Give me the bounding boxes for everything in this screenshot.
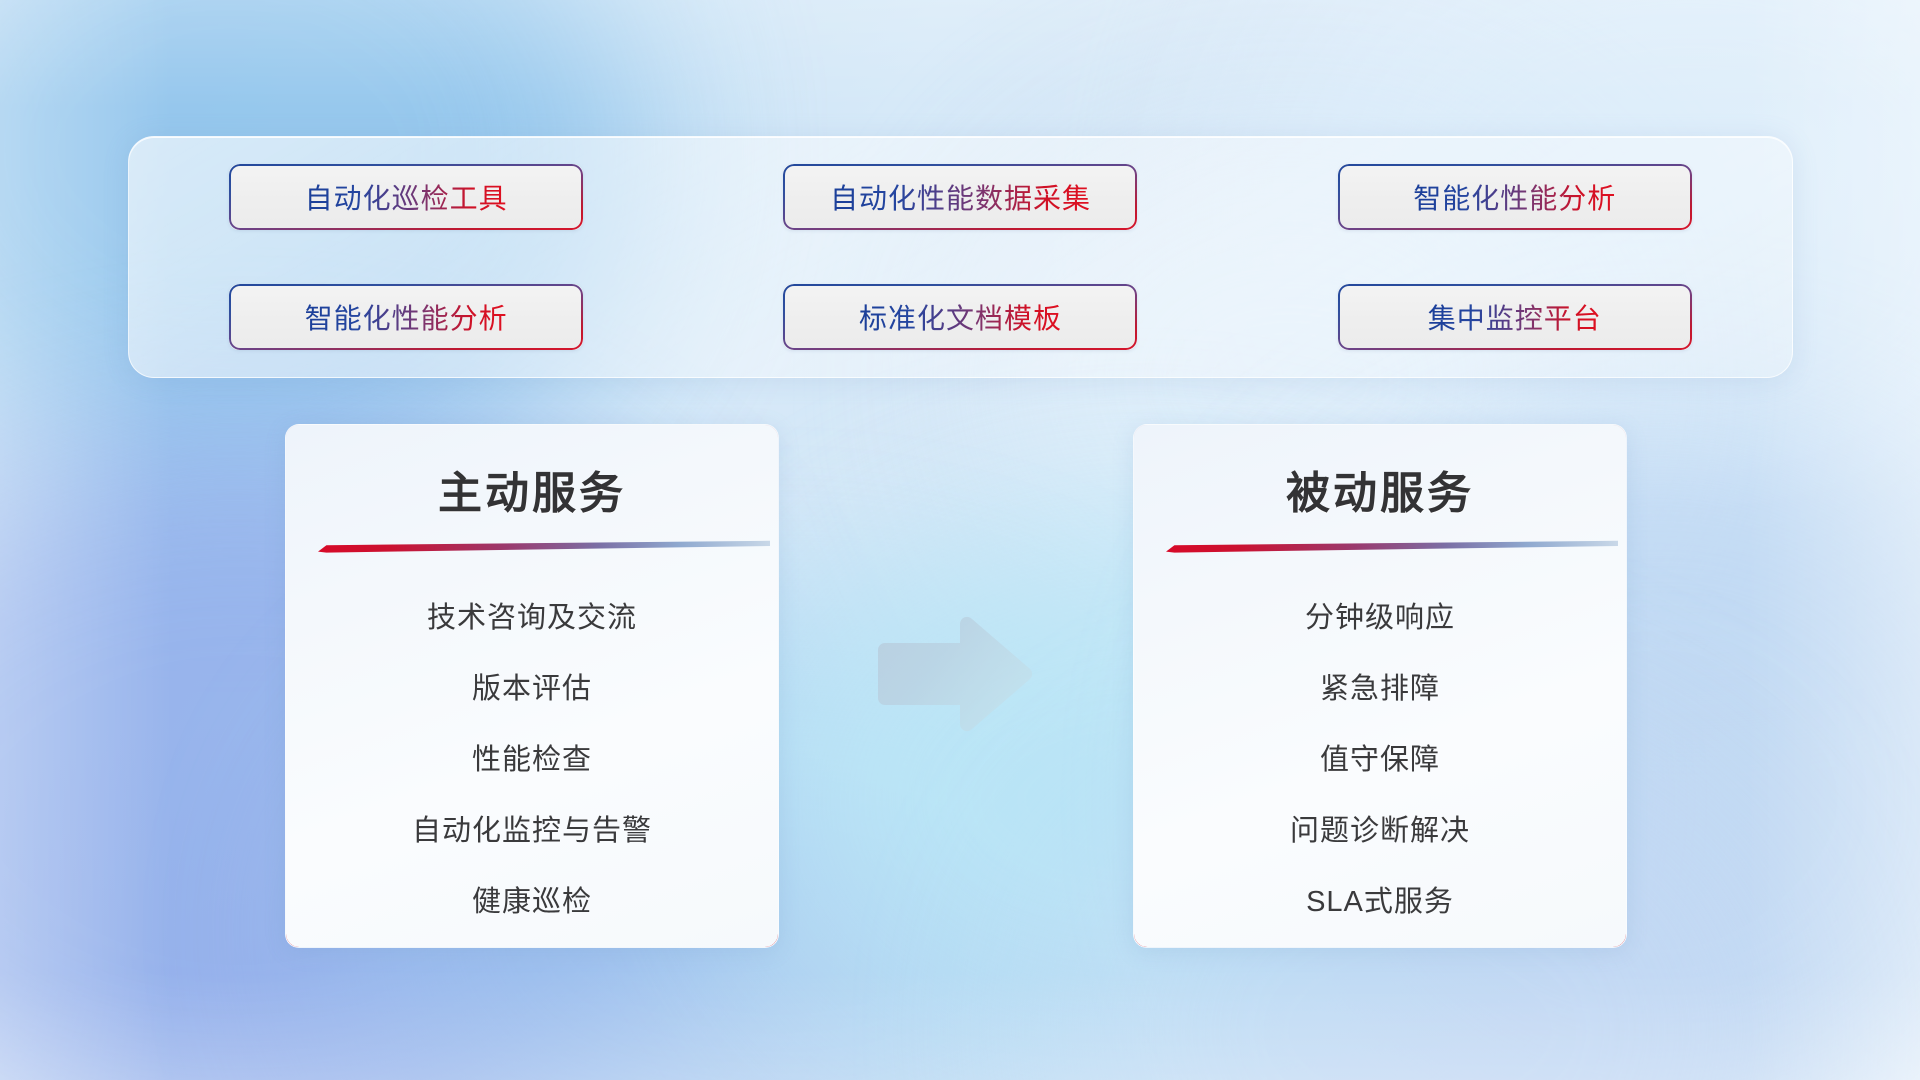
list-item: 版本评估	[472, 654, 592, 725]
tag-button-centralized-monitoring-platform[interactable]: 集中监控平台	[1338, 284, 1692, 350]
list-item: 紧急排障	[1320, 654, 1440, 725]
tag-button-automated-performance-data-collection[interactable]: 自动化性能数据采集	[783, 164, 1137, 230]
capability-tags-panel: 自动化巡检工具 自动化性能数据采集 智能化性能分析 智能化性能分析 标准化文档模…	[128, 136, 1793, 378]
service-card-proactive: 主动服务 技术咨询及交流 版本评估 性能检查 自	[285, 424, 779, 948]
tag-button-automated-inspection-tool[interactable]: 自动化巡检工具	[229, 164, 583, 230]
tag-button-standardized-document-template[interactable]: 标准化文档模板	[783, 284, 1137, 350]
list-item: 分钟级响应	[1305, 583, 1455, 654]
tag-button-intelligent-performance-analysis[interactable]: 智能化性能分析	[1338, 164, 1692, 230]
capability-tags-row-1: 自动化巡检工具 自动化性能数据采集 智能化性能分析	[129, 137, 1792, 257]
list-item: 问题诊断解决	[1290, 796, 1470, 867]
tag-button-label: 集中监控平台	[1428, 297, 1602, 337]
card-title: 被动服务	[1134, 457, 1626, 521]
card-item-list: 技术咨询及交流 版本评估 性能检查 自动化监控与告警 健康巡检	[286, 583, 778, 938]
service-card-reactive: 被动服务 分钟级响应 紧急排障 值守保障 问题诊	[1133, 424, 1627, 948]
list-item: 自动化监控与告警	[412, 796, 652, 867]
list-item: 技术咨询及交流	[427, 583, 637, 654]
card-title-separator	[286, 539, 778, 561]
separator-bar-red-to-blue	[1166, 539, 1618, 553]
arrow-right-icon	[872, 610, 1037, 738]
tag-button-label: 智能化性能分析	[1413, 177, 1616, 217]
list-item: 值守保障	[1320, 725, 1440, 796]
card-title-separator	[1134, 539, 1626, 561]
capability-tags-row-2: 智能化性能分析 标准化文档模板 集中监控平台	[129, 257, 1792, 377]
list-item: 健康巡检	[472, 867, 592, 938]
tag-button-label: 标准化文档模板	[859, 297, 1062, 337]
card-item-list: 分钟级响应 紧急排障 值守保障 问题诊断解决 SLA式服务	[1134, 583, 1626, 938]
list-item: SLA式服务	[1306, 867, 1454, 938]
tag-button-label: 自动化巡检工具	[305, 177, 508, 217]
tag-button-label: 智能化性能分析	[305, 297, 508, 337]
tag-button-label: 自动化性能数据采集	[830, 177, 1091, 217]
separator-bar-red-to-blue	[318, 539, 770, 553]
card-title: 主动服务	[286, 457, 778, 521]
list-item: 性能检查	[472, 725, 592, 796]
tag-button-intelligent-performance-analysis-2[interactable]: 智能化性能分析	[229, 284, 583, 350]
